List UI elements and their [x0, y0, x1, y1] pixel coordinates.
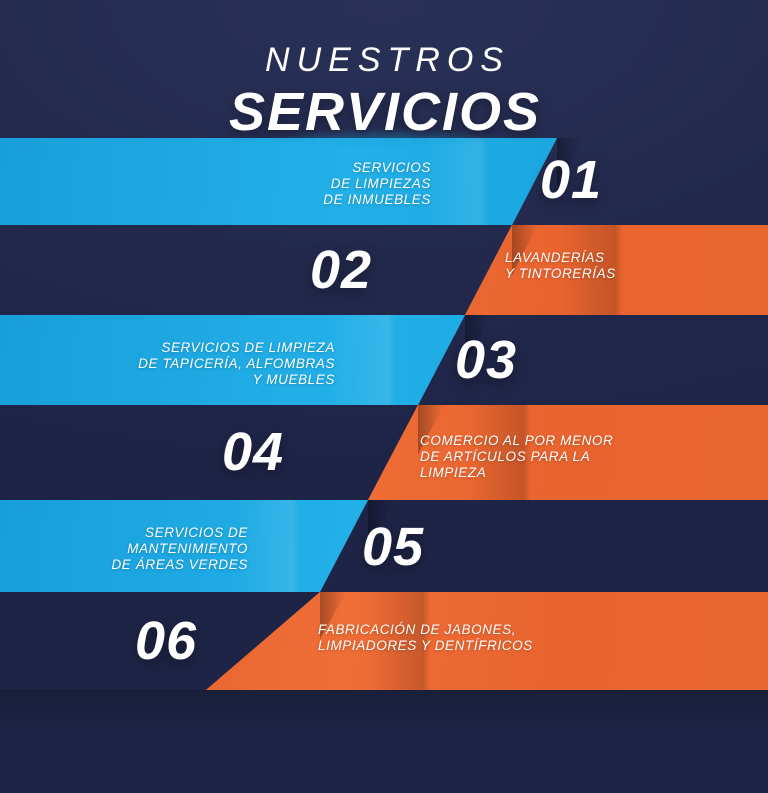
service-row-01[interactable]: SERVICIOS DE LIMPIEZAS DE INMUEBLES 01: [0, 138, 768, 225]
title-line-nuestros: NUESTROS: [0, 40, 768, 80]
service-number-04: 04: [222, 425, 284, 479]
service-row-03[interactable]: SERVICIOS DE LIMPIEZA DE TAPICERÍA, ALFO…: [0, 315, 768, 405]
service-number-05: 05: [362, 520, 424, 574]
bottom-shadow-decoration: [0, 690, 768, 793]
title-line-servicios: SERVICIOS: [0, 82, 768, 142]
service-label-01: SERVICIOS DE LIMPIEZAS DE INMUEBLES: [181, 160, 431, 208]
service-number-03: 03: [455, 333, 517, 387]
services-infographic: NUESTROS SERVICIOS SERVICIOS DE LIMPIEZA…: [0, 0, 768, 793]
service-band-stack: SERVICIOS DE LIMPIEZAS DE INMUEBLES 01 L…: [0, 138, 768, 690]
service-label-03: SERVICIOS DE LIMPIEZA DE TAPICERÍA, ALFO…: [35, 340, 335, 388]
service-label-06: FABRICACIÓN DE JABONES, LIMPIADORES Y DE…: [318, 622, 618, 654]
service-row-04[interactable]: COMERCIO AL POR MENOR DE ARTÍCULOS PARA …: [0, 405, 768, 500]
service-number-02: 02: [310, 243, 372, 297]
service-number-01: 01: [540, 153, 602, 207]
service-row-05[interactable]: SERVICIOS DE MANTENIMIENTO DE ÁREAS VERD…: [0, 500, 768, 592]
service-label-05: SERVICIOS DE MANTENIMIENTO DE ÁREAS VERD…: [8, 525, 248, 573]
service-row-02[interactable]: LAVANDERÍAS Y TINTORERÍAS 02: [0, 225, 768, 315]
service-label-02: LAVANDERÍAS Y TINTORERÍAS: [505, 250, 755, 282]
service-row-06[interactable]: FABRICACIÓN DE JABONES, LIMPIADORES Y DE…: [0, 592, 768, 690]
service-label-04: COMERCIO AL POR MENOR DE ARTÍCULOS PARA …: [420, 433, 700, 481]
service-number-06: 06: [135, 614, 197, 668]
page-title: NUESTROS SERVICIOS: [0, 40, 768, 142]
